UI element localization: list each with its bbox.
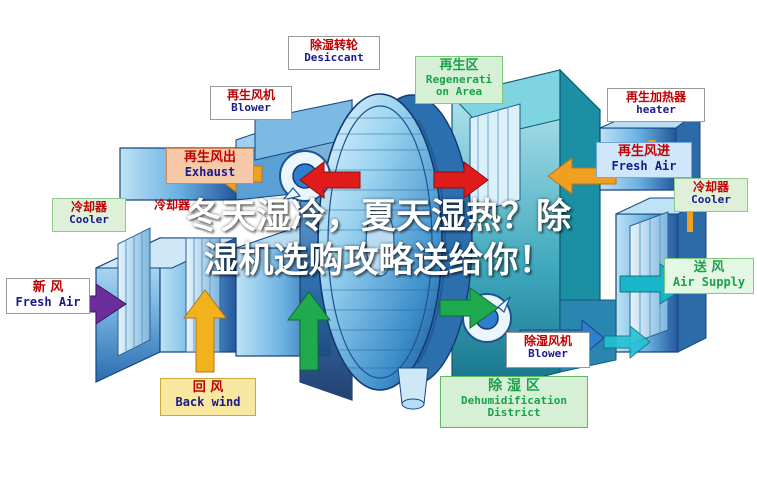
callout-label-en: Regenerati on Area — [418, 74, 500, 99]
callout-label-cn: 回 风 — [163, 381, 253, 396]
callout-air-supply: 送 风Air Supply — [664, 258, 754, 294]
diagram-canvas: 冬天湿冷，夏天湿热？除 湿机选购攻略送给你！ 除湿转轮Desiccant再生风机… — [0, 0, 757, 488]
callout-label-cn: 再生风机 — [213, 89, 289, 102]
callout-label-en: Fresh Air — [9, 296, 87, 309]
callout-label-cn: 冷却器 — [677, 181, 745, 194]
callout-label-en: Air Supply — [667, 276, 751, 289]
callout-label-cn: 冷却器 — [55, 201, 123, 214]
callout-desiccant-rotor: 除湿转轮Desiccant — [288, 36, 380, 70]
callout-label-cn: 除湿风机 — [509, 335, 587, 348]
callout-label-cn: 除 湿 区 — [443, 379, 585, 395]
callout-label-cn: 冷却器 — [142, 199, 202, 212]
callout-regeneration-blower: 再生风机Blower — [210, 86, 292, 120]
callout-label-cn: 新 风 — [9, 281, 87, 296]
callout-label-en: Fresh Air — [599, 160, 689, 173]
callout-dehumidifying-blower: 除湿风机Blower — [506, 332, 590, 368]
callout-cooler-left-2: 冷却器 — [140, 198, 204, 218]
callout-cooler-left-1: 冷却器Cooler — [52, 198, 126, 232]
callout-label-cn: 再生风出 — [169, 151, 251, 166]
callout-fresh-air-inlet: 新 风Fresh Air — [6, 278, 90, 314]
callout-label-en: heater — [610, 104, 702, 116]
callout-regeneration-area: 再生区Regenerati on Area — [415, 56, 503, 104]
callout-label-en: Blower — [213, 102, 289, 114]
callout-regeneration-exhaust: 再生风出Exhaust — [166, 148, 254, 184]
callout-label-en: Back wind — [163, 396, 253, 409]
callout-label-cn: 送 风 — [667, 261, 751, 276]
callout-label-en: Blower — [509, 348, 587, 360]
callout-label-en: Cooler — [55, 214, 123, 226]
callout-label-cn: 再生风进 — [599, 145, 689, 160]
callout-back-wind: 回 风Back wind — [160, 378, 256, 416]
callout-cooler-right: 冷却器Cooler — [674, 178, 748, 212]
callout-label-en: Exhaust — [169, 166, 251, 179]
callout-dehumidification-district: 除 湿 区Dehumidification District — [440, 376, 588, 428]
callout-label-en: Cooler — [677, 194, 745, 206]
overlay-title-line2: 湿机选购攻略送给你！ — [0, 240, 757, 284]
callout-label-cn: 再生加热器 — [610, 91, 702, 104]
callout-label-en: Dehumidification District — [443, 395, 585, 420]
callout-regeneration-fresh-air-in: 再生风进Fresh Air — [596, 142, 692, 178]
callout-label-cn: 除湿转轮 — [291, 39, 377, 52]
callout-regeneration-heater: 再生加热器heater — [607, 88, 705, 122]
callout-label-cn: 再生区 — [418, 59, 500, 74]
callout-label-en: Desiccant — [291, 52, 377, 64]
